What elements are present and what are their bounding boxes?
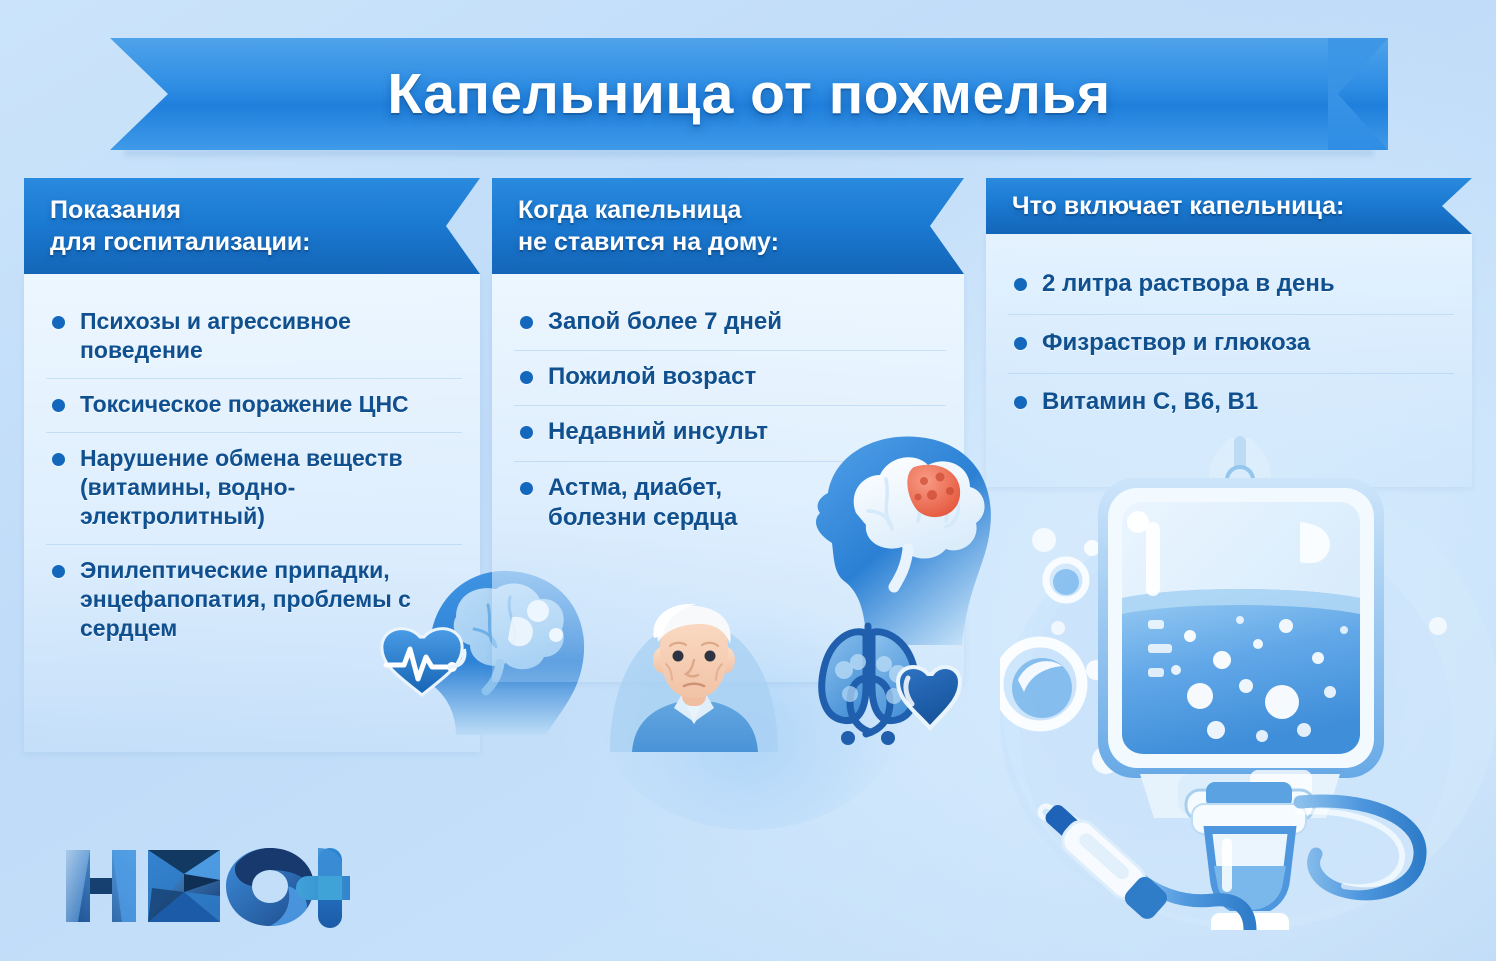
bullet-dot-icon: [52, 316, 65, 329]
list-item-label: Психозы и агрессивное поведение: [80, 307, 458, 365]
bullet-dot-icon: [52, 453, 65, 466]
panel-indications-header: Показания для госпитализации:: [24, 178, 480, 274]
panel-contraindications-header-line1: Когда капельница: [518, 194, 894, 226]
bullet-dot-icon: [520, 482, 533, 495]
list-item: Пожилой возраст: [514, 351, 946, 406]
title-ribbon: Капельница от похмелья: [110, 38, 1388, 150]
list-item-label: 2 литра раствора в день: [1042, 269, 1335, 299]
panel-indications-header-line1: Показания: [50, 194, 410, 226]
bullet-dot-icon: [1014, 278, 1027, 291]
bullet-dot-icon: [1014, 396, 1027, 409]
list-item-label: Токсическое поражение ЦНС: [80, 390, 409, 419]
list-item: 2 литра раствора в день: [1008, 256, 1454, 315]
list-item: Физраствор и глюкоза: [1008, 315, 1454, 374]
list-item-label: Астма, диабет, болезни сердца: [548, 473, 770, 533]
bullet-dot-icon: [520, 371, 533, 384]
iv-drip-bag-icon: [1000, 430, 1496, 930]
infographic-canvas: Капельница от похмелья Показания для гос…: [0, 0, 1496, 961]
list-item: Нарушение обмена веществ (витамины, водн…: [46, 433, 462, 545]
list-item: Витамин С, В6, В1: [1008, 374, 1454, 432]
list-item-label: Физраствор и глюкоза: [1042, 328, 1310, 358]
panel-contraindications-header-line2: не ставится на дому:: [518, 226, 894, 258]
bullet-dot-icon: [520, 316, 533, 329]
list-item-label: Витамин С, В6, В1: [1042, 387, 1258, 417]
bullet-dot-icon: [1014, 337, 1027, 350]
bullet-dot-icon: [52, 399, 65, 412]
page-title: Капельница от похмелья: [387, 61, 1110, 127]
neo-plus-logo: [60, 840, 350, 936]
bullet-dot-icon: [520, 426, 533, 439]
panel-indications-header-line2: для госпитализации:: [50, 226, 410, 258]
list-item: Запой более 7 дней: [514, 296, 946, 351]
elderly-man-icon: [604, 602, 784, 752]
list-item-label: Запой более 7 дней: [548, 307, 782, 337]
list-item-label: Нарушение обмена веществ (витамины, водн…: [80, 444, 458, 531]
list-item-label: Недавний инсульт: [548, 417, 768, 447]
lungs-heart-icon: [802, 620, 962, 750]
bullet-dot-icon: [52, 565, 65, 578]
panel-contents-header-line1: Что включает капельница:: [1012, 190, 1412, 222]
panel-contraindications-header: Когда капельница не ставится на дому:: [492, 178, 964, 274]
list-item: Астма, диабет, болезни сердца: [514, 462, 774, 546]
list-item: Психозы и агрессивное поведение: [46, 296, 462, 379]
panel-contents-header: Что включает капельница:: [986, 178, 1472, 234]
list-item-label: Пожилой возраст: [548, 362, 756, 392]
ribbon-right-notch: [1328, 38, 1388, 150]
title-ribbon-shadow: [124, 150, 1374, 160]
list-item: Токсическое поражение ЦНС: [46, 379, 462, 433]
